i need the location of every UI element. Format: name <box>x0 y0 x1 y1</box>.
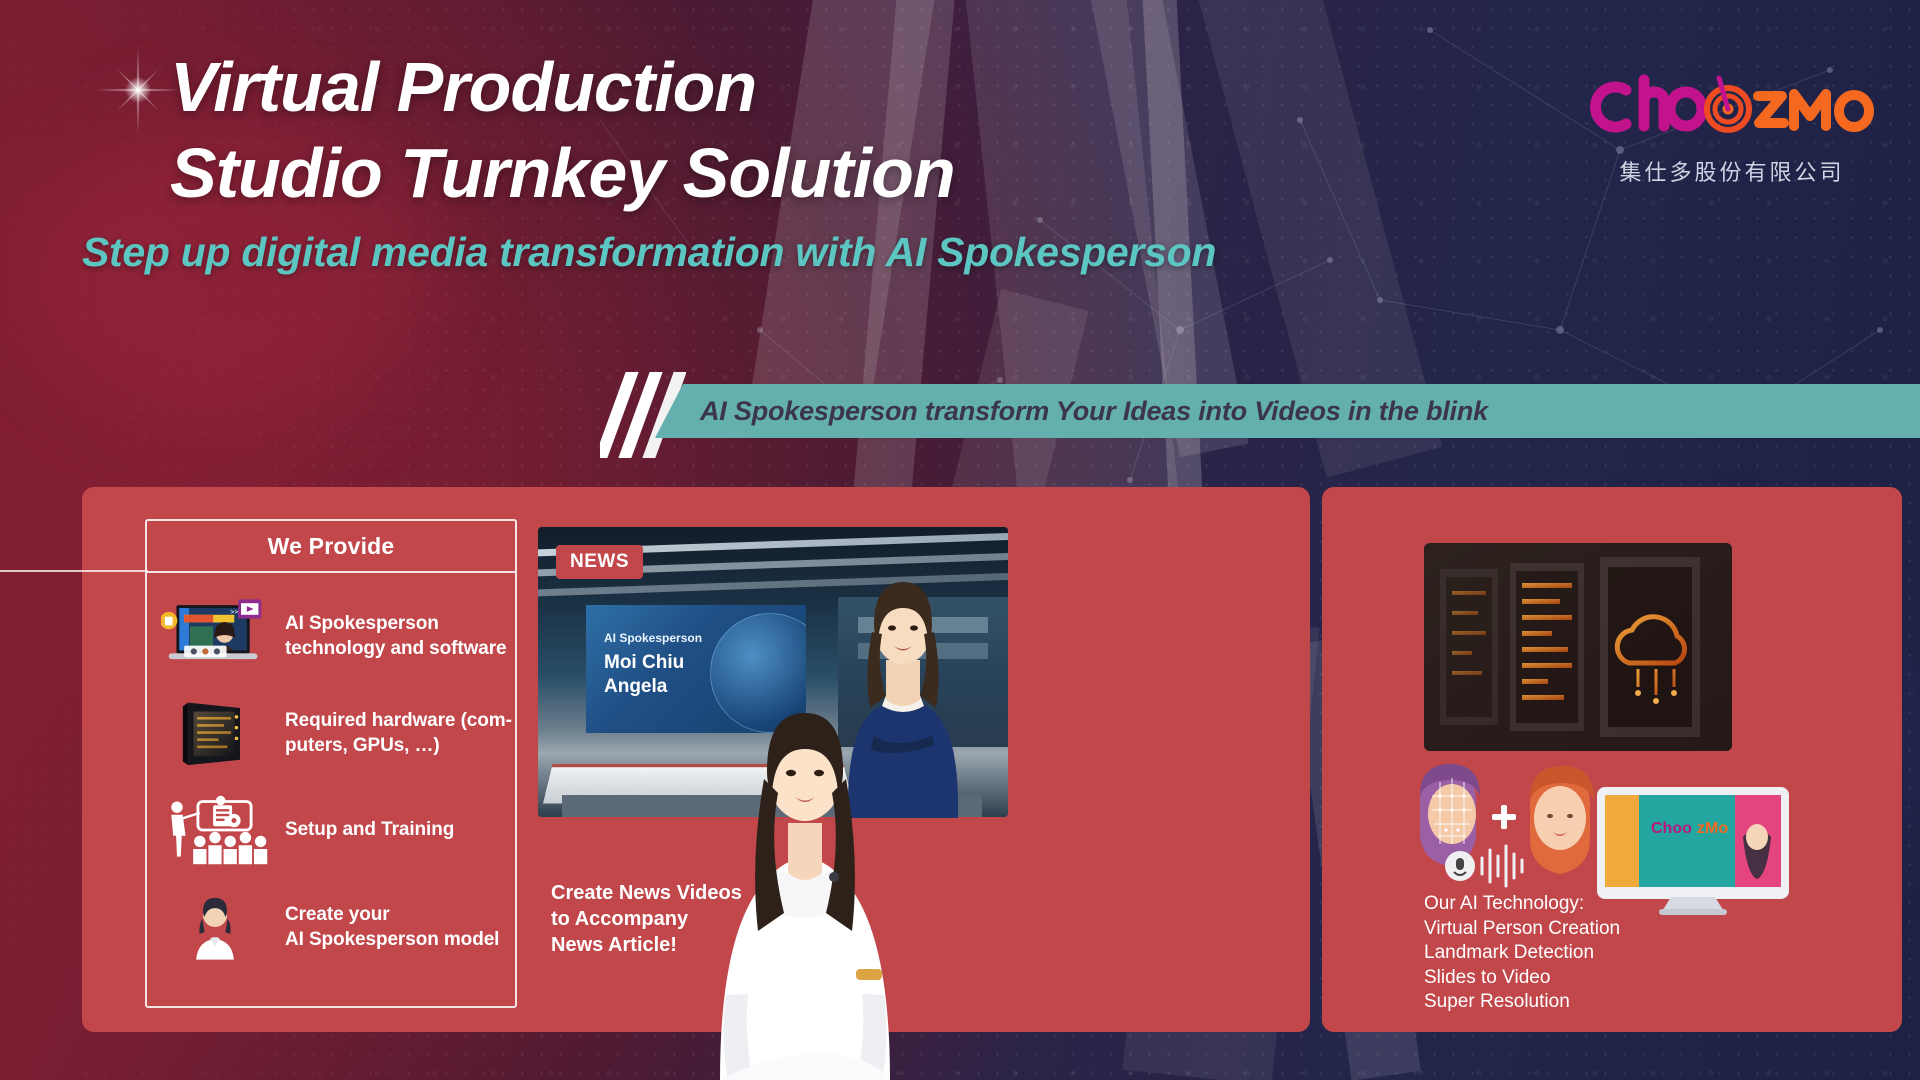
we-provide-box: We Provide >>> <box>145 519 517 1008</box>
list-item[interactable]: >>> AI Spokesperson technology and softw… <box>147 587 515 684</box>
face-landmark-detection-icon <box>1420 764 1480 866</box>
brand-logo[interactable]: 集仕多股份有限公司 <box>1582 72 1882 187</box>
plus-icon <box>1492 805 1516 829</box>
news-badge: NEWS <box>556 545 643 579</box>
we-provide-list: >>> AI Spokesperson technology and softw… <box>147 573 515 975</box>
list-item-label: AI Spokesperson technology and software <box>271 611 507 661</box>
server-rack-icon <box>159 690 271 776</box>
audio-waveform-icon <box>1445 846 1522 886</box>
choozmo-wordmark-icon <box>1582 72 1882 138</box>
foreground-presenter-photo <box>690 565 920 1080</box>
tagline-text: AI Spokesperson transform Your Ideas int… <box>700 396 1488 427</box>
monitor-logo-text: Choo <box>1651 820 1692 837</box>
training-presenter-icon <box>159 787 271 873</box>
studio-screen-name: Moi Chiu Angela <box>604 651 684 699</box>
list-item[interactable]: Setup and Training <box>147 781 515 878</box>
person-portrait-icon <box>159 884 271 970</box>
list-item-label: Required hardware (com- puters, GPUs, …) <box>271 708 512 758</box>
laptop-video-call-icon: >>> <box>159 593 271 679</box>
studio-screen-label: AI Spokesperson <box>604 631 702 645</box>
svg-text:zMo: zMo <box>1697 820 1728 837</box>
list-item-label: Setup and Training <box>271 817 454 842</box>
we-provide-heading: We Provide <box>147 521 515 573</box>
right-panel-caption: Our AI Technology: Virtual Person Creati… <box>1424 892 1744 1015</box>
list-item[interactable]: Required hardware (com- puters, GPUs, …) <box>147 684 515 781</box>
list-item-label: Create your AI Spokesperson model <box>271 902 499 952</box>
decor-hairline <box>0 570 148 572</box>
person-avatar-icon <box>1530 766 1594 874</box>
company-name-cn: 集仕多股份有限公司 <box>1582 155 1882 187</box>
list-item[interactable]: Create your AI Spokesperson model <box>147 878 515 975</box>
server-room-cloud-icon <box>1424 543 1732 751</box>
page-subtitle: Step up digital media transformation wit… <box>82 224 1482 280</box>
tagline-ribbon: AI Spokesperson transform Your Ideas int… <box>655 384 1920 438</box>
page-title: Virtual Production Studio Turnkey Soluti… <box>170 44 1430 216</box>
poster-stage: Virtual Production Studio Turnkey Soluti… <box>0 0 1920 1080</box>
